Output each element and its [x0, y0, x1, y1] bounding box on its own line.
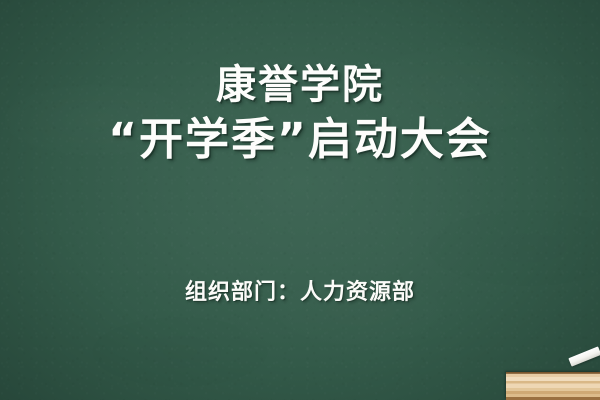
- title-slide: 康誉学院 “开学季”启动大会 组织部门：人力资源部: [0, 0, 600, 400]
- title-line-1: 康誉学院: [0, 62, 600, 108]
- chalk-ledge-edge: [506, 372, 600, 374]
- title-line-2: “开学季”启动大会: [0, 114, 600, 165]
- slide-content: 康誉学院 “开学季”启动大会 组织部门：人力资源部: [0, 0, 600, 400]
- chalk-ledge-icon: [506, 372, 600, 400]
- slide-title: 康誉学院 “开学季”启动大会: [0, 62, 600, 165]
- slide-subtitle: 组织部门：人力资源部: [0, 274, 600, 306]
